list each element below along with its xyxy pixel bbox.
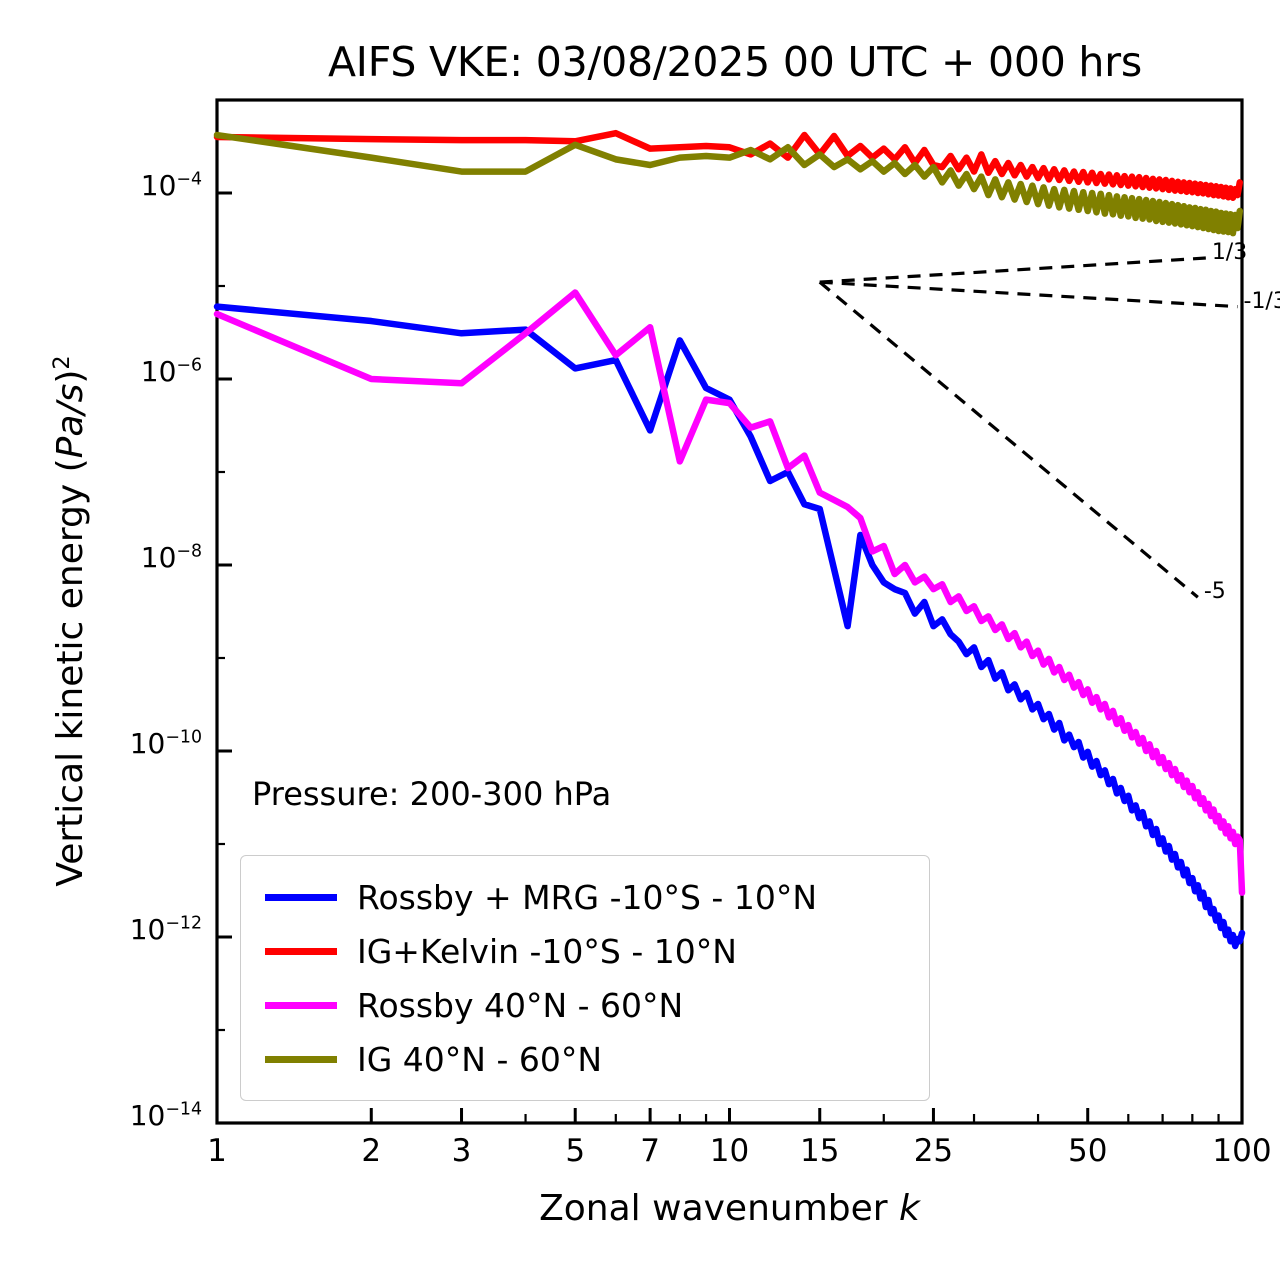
x-tick-label: 50 [1028, 1133, 1148, 1169]
legend-item[interactable]: IG 40°N - 60°N [259, 1032, 911, 1086]
x-tick-label: 25 [873, 1133, 993, 1169]
legend[interactable]: Rossby + MRG -10°S - 10°NIG+Kelvin -10°S… [240, 855, 930, 1101]
legend-item[interactable]: Rossby + MRG -10°S - 10°N [259, 870, 911, 924]
y-tick-label: 10−6 [2, 355, 202, 388]
legend-color-swatch [265, 894, 337, 901]
legend-item[interactable]: Rossby 40°N - 60°N [259, 978, 911, 1032]
y-tick-label: 10−8 [2, 541, 202, 574]
legend-color-swatch [265, 1056, 337, 1063]
legend-color-swatch [265, 948, 337, 955]
y-tick-label: 10−14 [2, 1099, 202, 1132]
pressure-annotation: Pressure: 200-300 hPa [252, 775, 611, 813]
y-tick-label: 10−10 [2, 727, 202, 760]
series-line [217, 133, 1240, 198]
legend-item-label: IG 40°N - 60°N [357, 1040, 602, 1079]
reference-slope-line [820, 258, 1206, 282]
legend-color-swatch [265, 1002, 337, 1009]
legend-item-label: Rossby + MRG -10°S - 10°N [357, 878, 817, 917]
legend-item-label: IG+Kelvin -10°S - 10°N [357, 932, 737, 971]
y-tick-label: 10−12 [2, 913, 202, 946]
reference-slope-line [820, 282, 1238, 306]
y-tick-label: 10−4 [2, 169, 202, 202]
x-tick-label: 100 [1182, 1133, 1280, 1169]
slope-label-positive-third: 1/3 [1212, 240, 1247, 265]
slope-label-negative-third: -1/3 [1244, 289, 1280, 314]
figure-container: AIFS VKE: 03/08/2025 00 UTC + 000 hrs Ve… [0, 0, 1280, 1288]
x-tick-label: 1 [157, 1133, 277, 1169]
x-tick-label: 3 [402, 1133, 522, 1169]
legend-item[interactable]: IG+Kelvin -10°S - 10°N [259, 924, 911, 978]
legend-item-label: Rossby 40°N - 60°N [357, 986, 683, 1025]
slope-label-negative-five: -5 [1204, 579, 1226, 604]
x-tick-label: 15 [760, 1133, 880, 1169]
